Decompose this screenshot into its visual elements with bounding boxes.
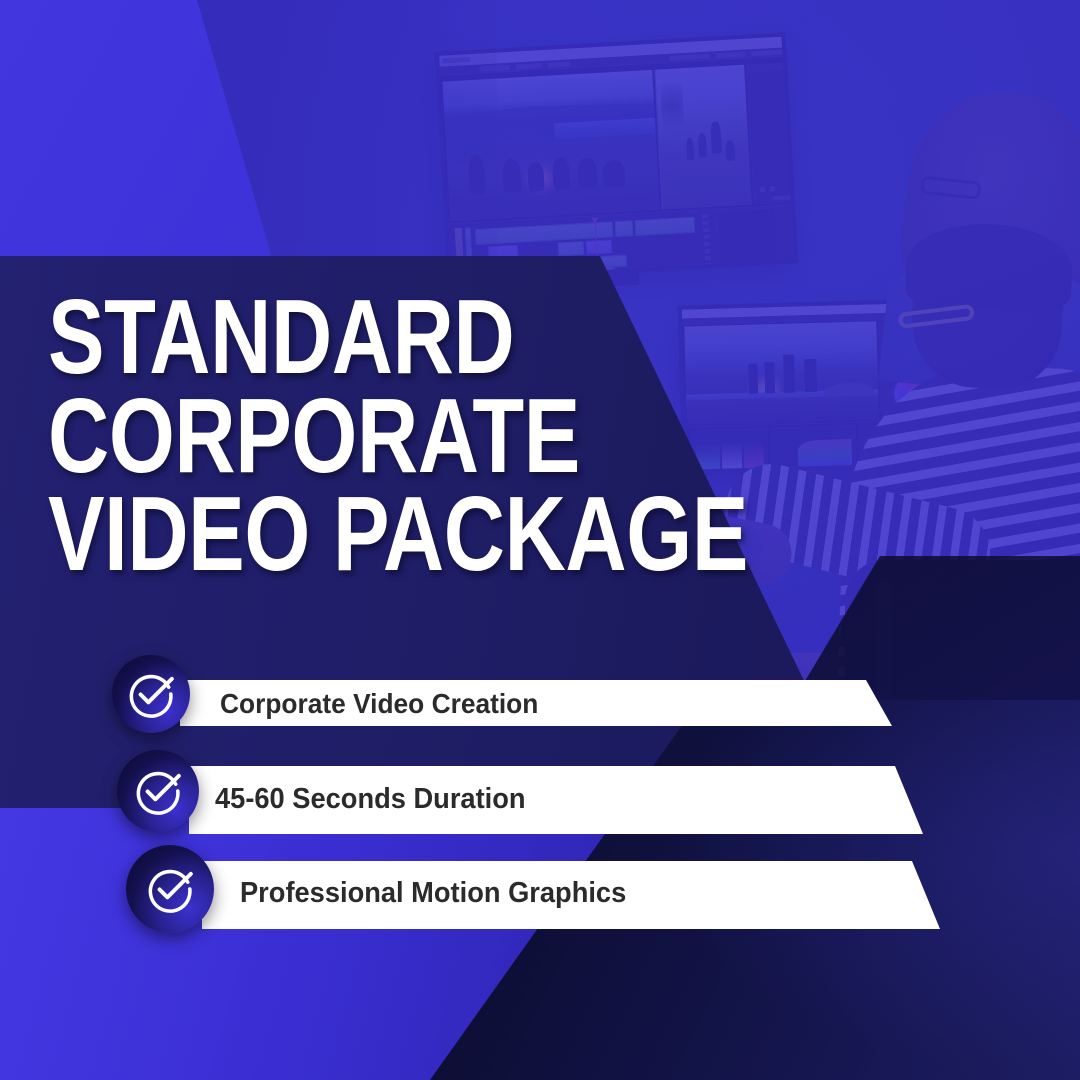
feature-label: Professional Motion Graphics (240, 877, 626, 910)
feature-label: Corporate Video Creation (220, 688, 538, 720)
feature-label: 45-60 Seconds Duration (215, 783, 526, 816)
promo-banner-canvas: STANDARD CORPORATE VIDEO PACKAGE Corpora… (0, 0, 1080, 1080)
check-circle-icon (117, 750, 199, 832)
feature-list: Corporate Video Creation 45-60 Seconds D… (0, 0, 1080, 1080)
check-circle-icon (112, 655, 190, 733)
check-circle-icon (126, 845, 214, 933)
